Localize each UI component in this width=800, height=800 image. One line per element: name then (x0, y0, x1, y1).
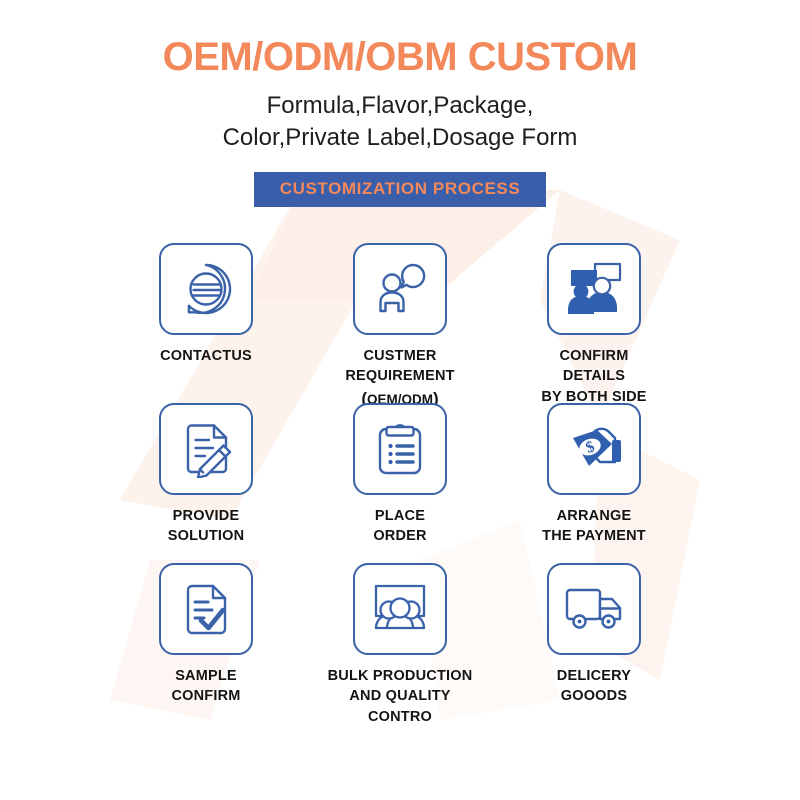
process-step-provide-solution[interactable]: PROVIDE SOLUTION (120, 403, 292, 563)
document-pencil-icon (178, 420, 234, 478)
icon-box (547, 243, 641, 335)
speech-bubble-lines-icon (177, 260, 235, 318)
document-check-icon (179, 580, 233, 638)
clipboard-checklist-icon (372, 420, 428, 478)
step-label: PROVIDE SOLUTION (168, 506, 245, 547)
step-label: DELICERY GOOODS (557, 666, 631, 707)
icon-box (159, 403, 253, 495)
subtitle-line-2: Color,Private Label,Dosage Form (223, 122, 578, 154)
process-step-sample-confirm[interactable]: SAMPLE CONFIRM (120, 563, 292, 723)
process-step-customer-requirement[interactable]: CUSTMER REQUIREMENT (OEM/ODM) (314, 243, 486, 403)
process-step-place-order[interactable]: PLACE ORDER (314, 403, 486, 563)
team-presentation-icon (369, 582, 431, 636)
icon-box (353, 563, 447, 655)
subtitle-line-1: Formula,Flavor,Package, (223, 90, 578, 122)
step-label: SAMPLE CONFIRM (171, 666, 240, 707)
process-step-contact-us[interactable]: CONTACTUS (120, 243, 292, 403)
icon-box (353, 403, 447, 495)
process-steps-grid: CONTACTUS CUSTMER REQUIREMENT (OEM/ODM) (120, 243, 680, 723)
person-speech-bubble-icon (371, 260, 429, 318)
icon-box: $ (547, 403, 641, 495)
hand-money-icon: $ (564, 422, 624, 476)
step-label: CONTACTUS (160, 346, 252, 367)
customization-process-page: OEM/ODM/OBM CUSTOM Formula,Flavor,Packag… (0, 0, 800, 800)
process-step-confirm-details[interactable]: CONFIRM DETAILS BY BOTH SIDE (508, 243, 680, 403)
page-title: OEM/ODM/OBM CUSTOM (163, 36, 638, 78)
step-label: CONFIRM DETAILS BY BOTH SIDE (541, 346, 646, 408)
customization-process-banner: CUSTOMIZATION PROCESS (254, 172, 547, 207)
process-step-bulk-production[interactable]: BULK PRODUCTION AND QUALITY CONTRO (314, 563, 486, 723)
process-step-arrange-payment[interactable]: $ ARRANGE THE PAYMENT (508, 403, 680, 563)
step-label: BULK PRODUCTION AND QUALITY CONTRO (328, 666, 473, 728)
icon-box (159, 563, 253, 655)
process-step-delivery-goods[interactable]: DELICERY GOOODS (508, 563, 680, 723)
step-label: PLACE ORDER (373, 506, 426, 547)
two-people-chat-icon (564, 260, 624, 318)
step-label: CUSTMER REQUIREMENT (OEM/ODM) (345, 346, 454, 411)
delivery-truck-icon (563, 584, 625, 634)
icon-box (547, 563, 641, 655)
step-label: ARRANGE THE PAYMENT (542, 506, 646, 547)
icon-box (353, 243, 447, 335)
page-subtitle: Formula,Flavor,Package, Color,Private La… (223, 90, 578, 155)
icon-box (159, 243, 253, 335)
